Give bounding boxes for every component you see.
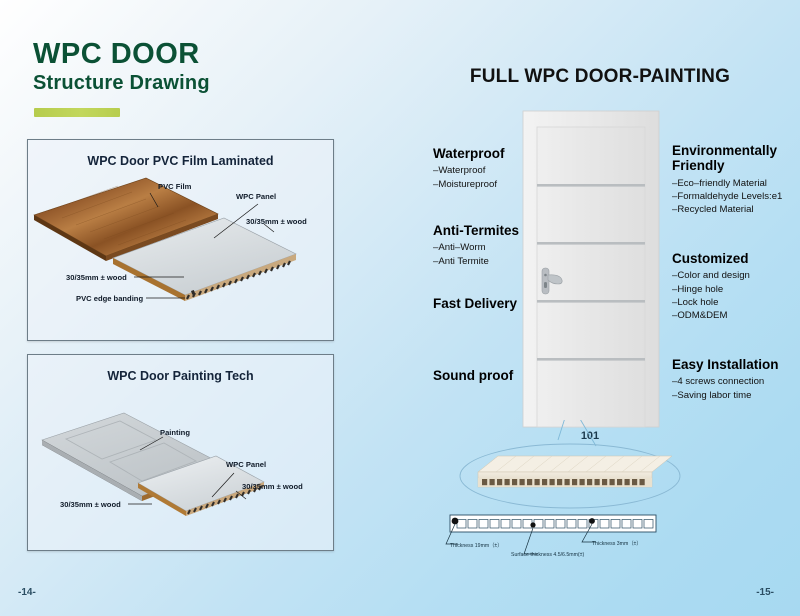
bullet: –Color and design: [672, 269, 750, 282]
feature-heading: Waterproof: [433, 146, 505, 161]
page-number-left: -14-: [18, 587, 36, 598]
slide-canvas: WPC DOOR Structure Drawing WPC Door PVC …: [0, 0, 800, 616]
feature-heading: Customized: [672, 251, 750, 266]
label-wood-right-1: 30/35mm ± wood: [246, 217, 307, 226]
label-wood-right-2: 30/35mm ± wood: [242, 482, 303, 491]
bullet: –Lock hole: [672, 296, 750, 309]
bullet: –Anti–Worm: [433, 241, 519, 254]
feature-bullets: –Anti–Worm –Anti Termite: [433, 241, 519, 267]
title-line-2: Structure Drawing: [33, 73, 210, 94]
bullet: –Eco–friendly Material: [672, 177, 800, 190]
bullet: –Recycled Material: [672, 203, 800, 216]
bullet: –ODM&DEM: [672, 309, 750, 322]
bullet: –Hinge hole: [672, 283, 750, 296]
label-wpc-panel-2: WPC Panel: [226, 460, 266, 469]
right-page-title: FULL WPC DOOR-PAINTING: [400, 66, 800, 88]
label-wood-left-1: 30/35mm ± wood: [66, 273, 127, 282]
feature-heading: Environmentally Friendly: [672, 143, 800, 174]
label-thickness-total: Thickness 19mm（±）: [450, 542, 502, 549]
dim-dot-rib: [589, 518, 595, 524]
feature-heading: Sound proof: [433, 368, 513, 383]
door-illustration: [515, 105, 675, 435]
feature-heading: Anti-Termites: [433, 223, 519, 238]
feature-bullets: –Eco–friendly Material –Formaldehyde Lev…: [672, 177, 800, 217]
feature-heading: Fast Delivery: [433, 296, 517, 311]
hollow-board-3d: [478, 456, 672, 487]
left-page-title: WPC DOOR Structure Drawing: [33, 40, 210, 94]
feature-bullets: –Color and design –Hinge hole –Lock hole…: [672, 269, 750, 322]
left-page: WPC DOOR Structure Drawing WPC Door PVC …: [0, 0, 400, 616]
diagram-box-painting-tech: WPC Door Painting Tech: [27, 354, 334, 551]
feature-easy-installation: Easy Installation –4 screws connection –…: [672, 357, 779, 402]
diagram-figure-2: Painting WPC Panel 30/35mm ± wood 30/35m…: [28, 355, 333, 550]
label-wpc-panel-1: WPC Panel: [236, 192, 276, 201]
feature-sound-proof: Sound proof: [433, 368, 513, 383]
bullet: –Moistureproof: [433, 178, 505, 191]
feature-customized: Customized –Color and design –Hinge hole…: [672, 251, 750, 322]
bullet: –Waterproof: [433, 164, 505, 177]
diagram-box-pvc-film: WPC Door PVC Film Laminated: [27, 139, 334, 341]
feature-waterproof: Waterproof –Waterproof –Moistureproof: [433, 146, 505, 191]
label-thickness-rib: Thickness 3mm（±）: [592, 540, 642, 547]
bullet: –Saving labor time: [672, 389, 779, 402]
green-accent-bar: [34, 108, 120, 117]
feature-anti-termites: Anti-Termites –Anti–Worm –Anti Termite: [433, 223, 519, 268]
page-number-right: -15-: [756, 587, 774, 598]
title-line-1: WPC DOOR: [33, 40, 210, 69]
bullet: –4 screws connection: [672, 375, 779, 388]
label-painting: Painting: [160, 428, 190, 437]
bullet: –Formaldehyde Levels:e1: [672, 190, 800, 203]
feature-bullets: –Waterproof –Moistureproof: [433, 164, 505, 190]
panel-cross-section-callout: [420, 420, 780, 560]
label-pvc-film: PVC Film: [158, 182, 192, 191]
callout-leaders: [558, 420, 596, 446]
feature-fast-delivery: Fast Delivery: [433, 296, 517, 311]
feature-bullets: –4 screws connection –Saving labor time: [672, 375, 779, 401]
right-page: FULL WPC DOOR-PAINTING: [400, 0, 800, 616]
dim-dot-total: [452, 518, 459, 525]
dim-dot-surface: [530, 522, 535, 527]
feature-heading: Easy Installation: [672, 357, 779, 372]
label-edge-banding: PVC edge banding: [76, 294, 143, 303]
label-surface-thickness: Surface thickness 4.5/6.5mm(±): [511, 552, 584, 558]
label-wood-left-2: 30/35mm ± wood: [60, 500, 121, 509]
bullet: –Anti Termite: [433, 255, 519, 268]
diagram-figure-1: PVC Film WPC Panel 30/35mm ± wood 30/35m…: [28, 140, 333, 340]
feature-environmentally-friendly: Environmentally Friendly –Eco–friendly M…: [672, 143, 800, 216]
